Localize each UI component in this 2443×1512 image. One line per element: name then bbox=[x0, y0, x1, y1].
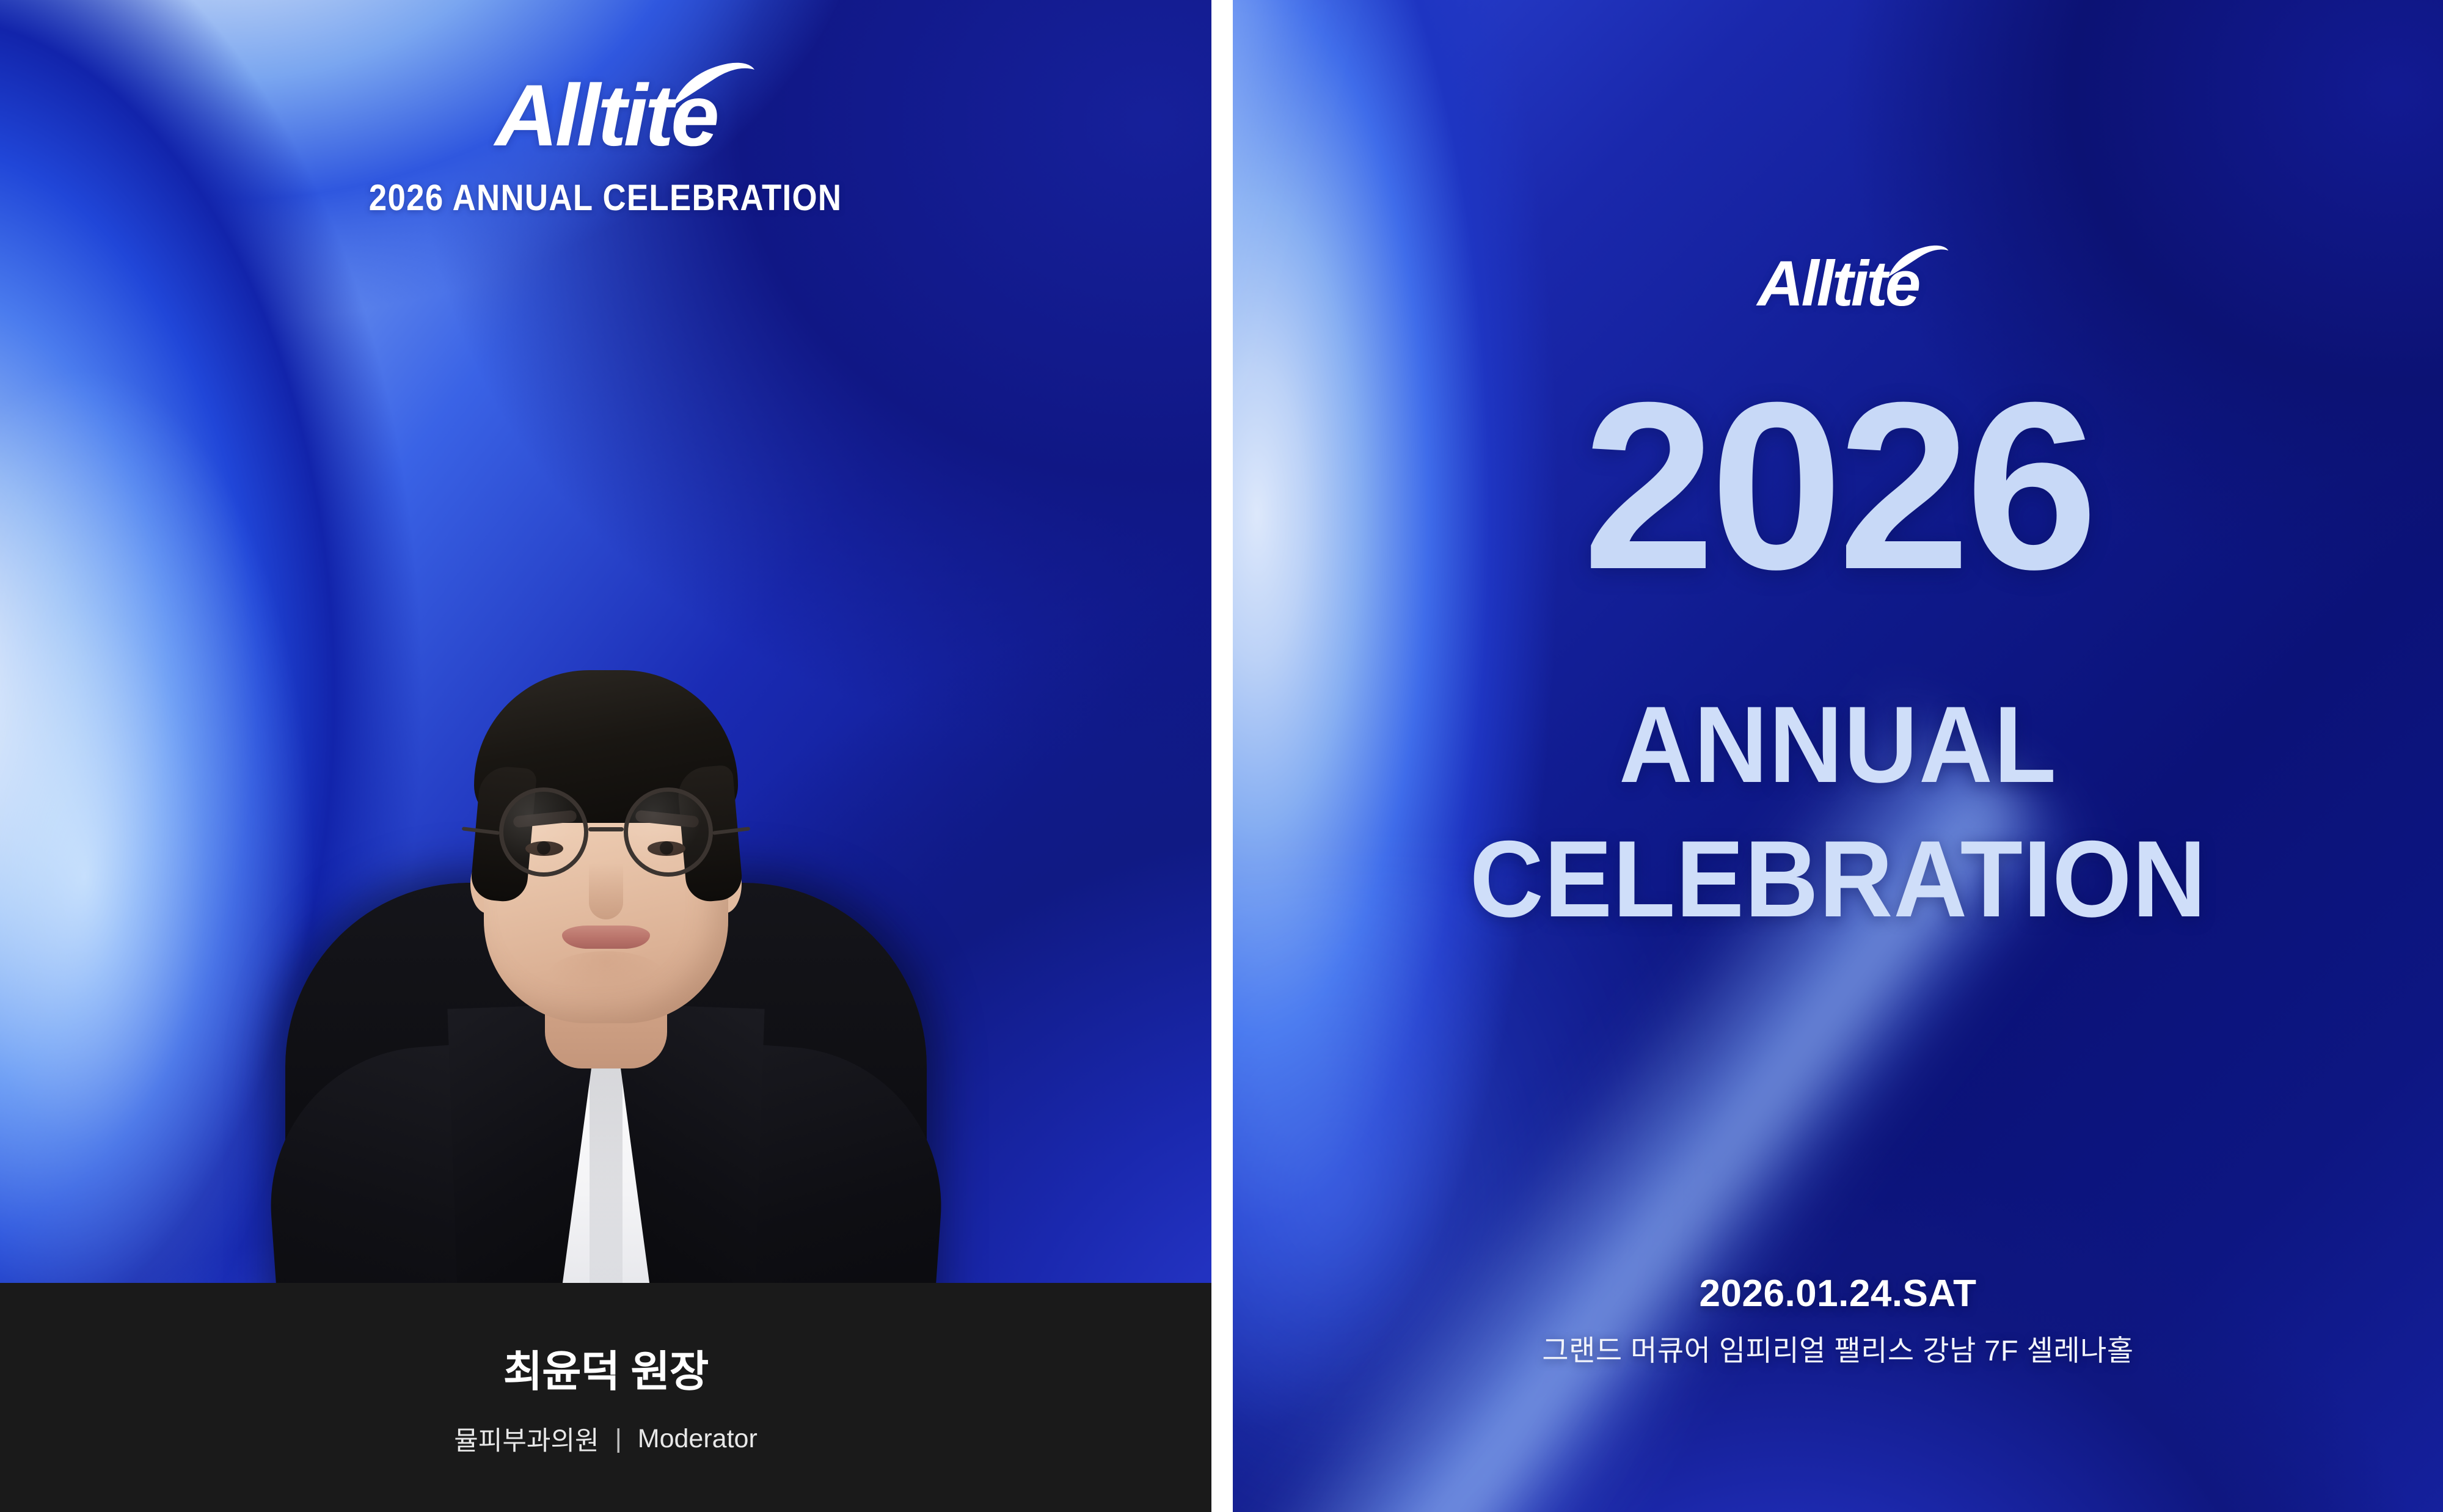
portrait-chin-highlight bbox=[547, 951, 665, 1000]
right-panel-content: Alltite 2026 ANNUAL CELEBRATION 2026.01.… bbox=[1233, 0, 2443, 1512]
event-year: 2026 bbox=[1583, 367, 2094, 605]
left-panel-subtitle: 2026 ANNUAL CELEBRATION bbox=[369, 177, 842, 219]
alltite-logo-wordmark-right: Alltite bbox=[1758, 248, 1919, 320]
right-event-card: Alltite 2026 ANNUAL CELEBRATION 2026.01.… bbox=[1233, 0, 2443, 1512]
portrait-glasses-bridge bbox=[588, 827, 624, 831]
speaker-meta: 뮬피부과의원 | Moderator bbox=[454, 1420, 758, 1458]
speaker-meta-divider: | bbox=[615, 1424, 622, 1454]
event-venue: 그랜드 머큐어 임피리얼 팰리스 강남 7F 셀레나홀 bbox=[1542, 1327, 2133, 1369]
event-headline-line2: CELEBRATION bbox=[1469, 825, 2206, 933]
alltite-logo-right: Alltite bbox=[1758, 252, 1919, 316]
event-headline-line1: ANNUAL bbox=[1619, 690, 2058, 799]
alltite-logo-wordmark: Alltite bbox=[495, 67, 716, 164]
left-panel-header: Alltite 2026 ANNUAL CELEBRATION bbox=[0, 72, 1211, 219]
speaker-role: Moderator bbox=[638, 1424, 758, 1454]
panel-gap-divider bbox=[1211, 0, 1233, 1512]
event-date: 2026.01.24.SAT bbox=[1700, 1272, 1977, 1315]
portrait-lips bbox=[562, 926, 650, 949]
portrait-nose bbox=[589, 863, 623, 919]
left-speaker-card: Alltite 2026 ANNUAL CELEBRATION 최윤덕 원장 뮬… bbox=[0, 0, 1211, 1512]
poster-canvas: Alltite 2026 ANNUAL CELEBRATION 최윤덕 원장 뮬… bbox=[0, 0, 2443, 1512]
speaker-caption-bar: 최윤덕 원장 뮬피부과의원 | Moderator bbox=[0, 1283, 1211, 1512]
speaker-name: 최윤덕 원장 bbox=[503, 1337, 708, 1399]
speaker-affiliation: 뮬피부과의원 bbox=[454, 1420, 599, 1458]
portrait-glasses-right-lens bbox=[624, 787, 713, 877]
alltite-logo: Alltite bbox=[495, 72, 716, 159]
portrait-glasses-left-lens bbox=[499, 787, 588, 877]
